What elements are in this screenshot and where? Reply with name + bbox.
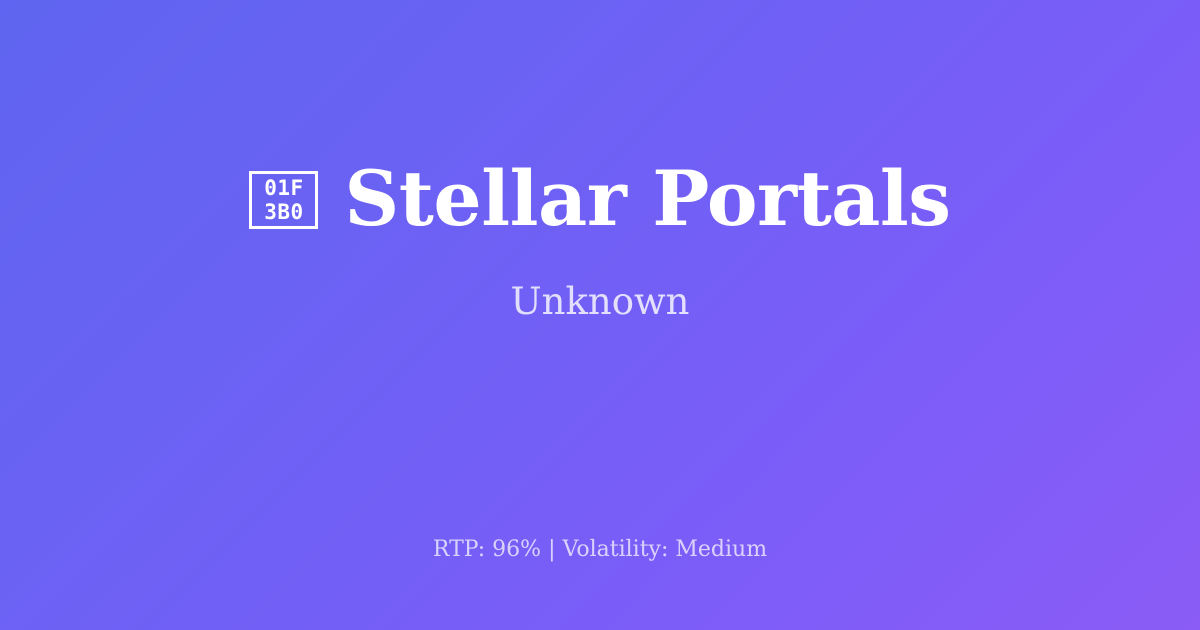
page-subtitle: Unknown	[510, 280, 689, 324]
hero-block: 01F 3B0 Stellar Portals Unknown	[0, 0, 1200, 470]
title-row: 01F 3B0 Stellar Portals	[249, 159, 950, 238]
slot-machine-icon: 01F 3B0	[249, 171, 318, 229]
codepoint-bottom: 3B0	[264, 200, 303, 224]
codepoint-top: 01F	[264, 176, 303, 200]
page-title: Stellar Portals	[344, 159, 950, 238]
game-stats-line: RTP: 96% | Volatility: Medium	[433, 536, 767, 565]
footer-meta-bar: RTP: 96% | Volatility: Medium	[0, 470, 1200, 630]
og-share-card: 01F 3B0 Stellar Portals Unknown RTP: 96%…	[0, 0, 1200, 630]
